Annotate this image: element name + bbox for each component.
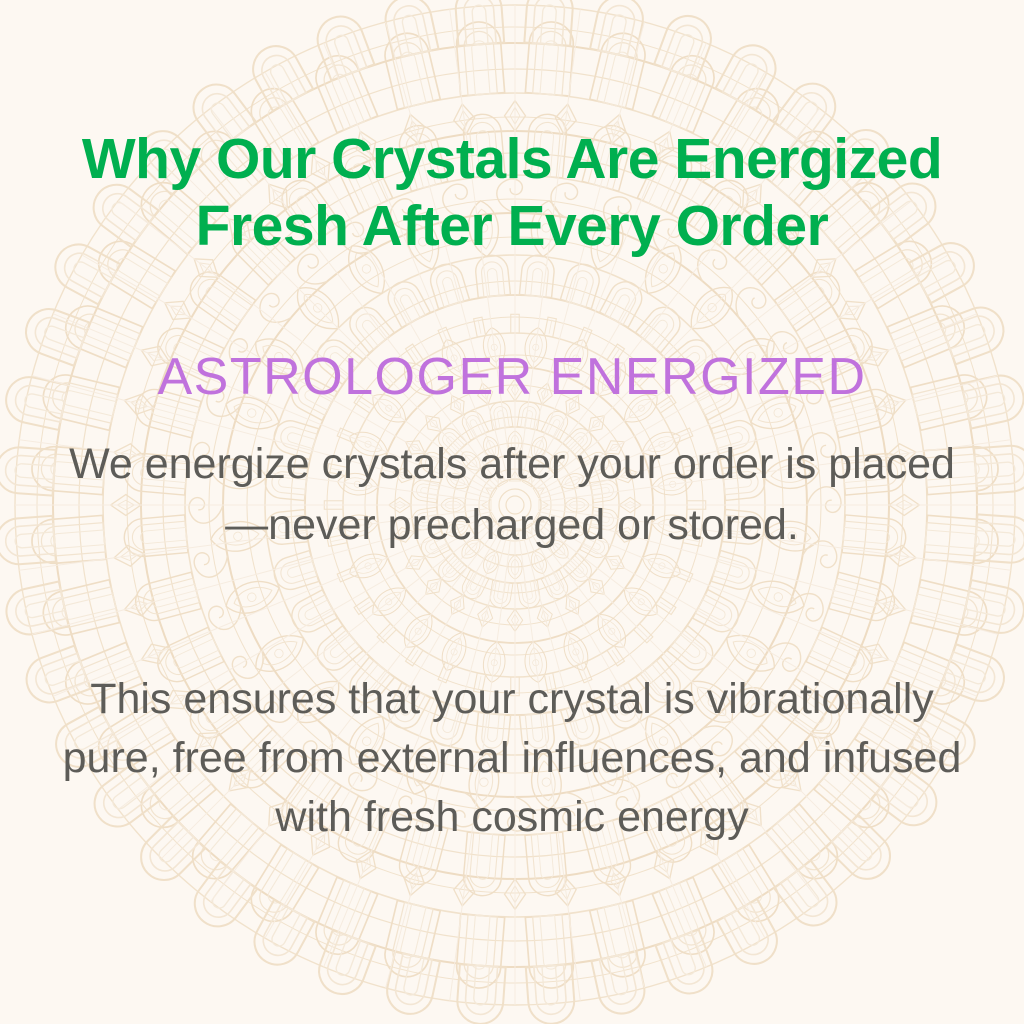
poster-content: Why Our Crystals Are Energized Fresh Aft… (0, 0, 1024, 1024)
body-paragraph-1: We energize crystals after your order is… (58, 434, 966, 556)
body-paragraph-2: This ensures that your crystal is vibrat… (58, 670, 966, 847)
page-title: Why Our Crystals Are Energized Fresh Aft… (70, 126, 954, 260)
subtitle: ASTROLOGER ENERGIZED (60, 348, 964, 406)
promotional-poster: Why Our Crystals Are Energized Fresh Aft… (0, 0, 1024, 1024)
